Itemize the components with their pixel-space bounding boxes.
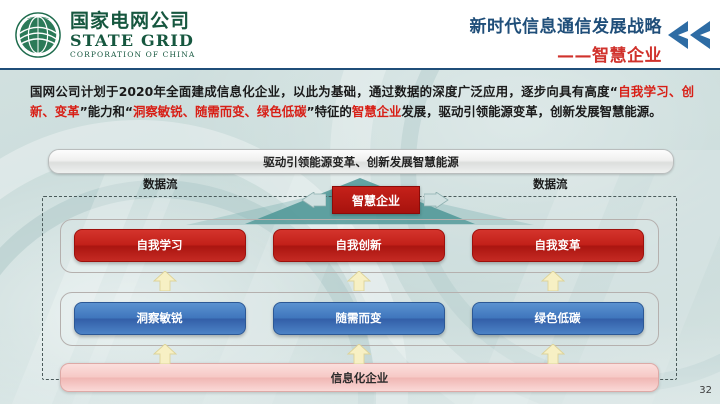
slide-header: 国家电网公司 STATE GRID CORPORATION OF CHINA 新… [0,0,720,68]
brand-logo-text: 国家电网公司 STATE GRID CORPORATION OF CHINA [70,12,195,59]
up-arrow-icon-red-2 [541,271,565,291]
brand-logo: 国家电网公司 STATE GRID CORPORATION OF CHINA [14,11,195,59]
up-arrow-icon-red-0 [153,271,177,291]
header-title-block: 新时代信息通信发展战略 ——智慧企业 [470,12,663,66]
header-title-secondary: ——智慧企业 [470,41,663,66]
diagram-top-bar-label: 驱动引领能源变革、创新发展智慧能源 [263,154,459,170]
header-title-primary: 新时代信息通信发展战略 [470,12,663,37]
capability-chip-1[interactable]: 自我创新 [273,229,445,262]
characteristic-chip-2-label: 绿色低碳 [535,310,581,326]
diagram-top-bar: 驱动引领能源变革、创新发展智慧能源 [48,149,674,174]
header-divider [0,68,720,70]
characteristic-chip-0-label: 洞察敏锐 [137,310,183,326]
capability-chip-2[interactable]: 自我变革 [472,229,644,262]
inward-arrow-right-icon [424,192,450,208]
capability-chip-0[interactable]: 自我学习 [74,229,246,262]
characteristic-chip-0[interactable]: 洞察敏锐 [74,302,246,335]
data-flow-label-right: 数据流 [533,176,568,192]
capability-chip-1-label: 自我创新 [336,237,382,253]
up-arrow-icon-blue-1 [347,344,371,364]
up-arrow-icon-red-1 [347,271,371,291]
brand-name-cn: 国家电网公司 [70,12,195,31]
diagram-bottom-bar-label: 信息化企业 [331,370,389,386]
up-arrow-icon-blue-2 [541,344,565,364]
double-chevron-left-icon [666,20,712,50]
center-chip-smart-enterprise[interactable]: 智慧企业 [332,186,420,214]
characteristic-chip-2[interactable]: 绿色低碳 [472,302,644,335]
brand-name-en: STATE GRID [70,33,195,49]
center-chip-label: 智慧企业 [352,192,400,209]
diagram-bottom-bar[interactable]: 信息化企业 [60,363,659,392]
capability-row: 自我学习 自我创新 自我变革 [60,219,657,271]
brand-name-sub: CORPORATION OF CHINA [70,51,195,59]
characteristic-row: 洞察敏锐 随需而变 绿色低碳 [60,292,657,344]
data-flow-label-left: 数据流 [143,176,178,192]
capability-chip-2-label: 自我变革 [535,237,581,253]
page-number: 32 [699,385,712,396]
characteristic-chip-1[interactable]: 随需而变 [273,302,445,335]
up-arrow-icon-blue-0 [153,344,177,364]
capability-chip-0-label: 自我学习 [137,237,183,253]
state-grid-emblem-icon [14,11,62,59]
characteristic-chip-1-label: 随需而变 [336,310,382,326]
slide-canvas: 国家电网公司 STATE GRID CORPORATION OF CHINA 新… [0,0,720,404]
inward-arrow-left-icon [300,192,326,208]
